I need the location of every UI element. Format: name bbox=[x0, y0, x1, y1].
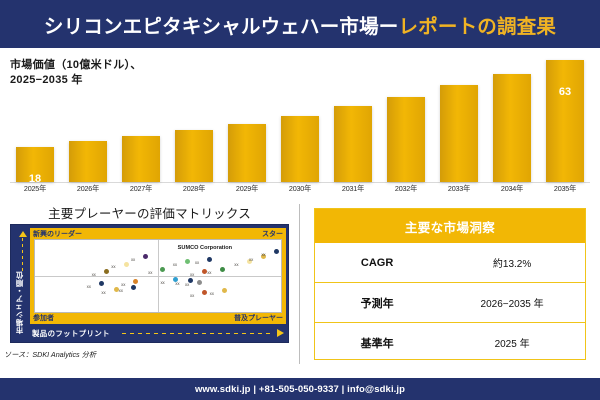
header-bar: シリコンエピタキシャルウェハー市場ーレポートの調査果 bbox=[0, 0, 600, 48]
x-axis-label: 2034年 bbox=[491, 184, 533, 198]
bar-value-label: 63 bbox=[546, 86, 584, 98]
matrix-point-label: xx bbox=[190, 272, 194, 277]
bar-column bbox=[385, 56, 427, 182]
x-axis-label: 2032年 bbox=[385, 184, 427, 198]
matrix-quadrant-frame: 新興のリーダー スター 参加者 普及プレーヤー SUMCO Corporatio… bbox=[30, 228, 286, 324]
insights-header: 主要な市場洞察 bbox=[315, 209, 585, 243]
bar bbox=[387, 97, 425, 182]
bar-column bbox=[491, 56, 533, 182]
bar bbox=[440, 85, 478, 182]
matrix-data-point bbox=[143, 254, 148, 259]
bar-column: 63 bbox=[544, 56, 586, 182]
matrix-point-label: xx bbox=[87, 284, 91, 289]
footer-contact: www.sdki.jp | +81-505-050-9337 | info@sd… bbox=[195, 384, 405, 395]
bar-column bbox=[332, 56, 374, 182]
matrix-x-axis-label: 製品のフットプリント bbox=[32, 328, 110, 339]
bar: 63 bbox=[546, 60, 584, 182]
quadrant-label-bottom-right: 普及プレーヤー bbox=[234, 313, 283, 323]
player-matrix-panel: 主要プレーヤーの評価マトリックス 市場シェア・順位 新興のリーダー スター 参加… bbox=[0, 200, 299, 378]
insights-row: 基準年2025 年 bbox=[315, 322, 585, 362]
x-axis-label: 2033年 bbox=[438, 184, 480, 198]
matrix-point-label: xx bbox=[175, 281, 179, 286]
matrix-point-label: xx bbox=[190, 293, 194, 298]
matrix-data-point bbox=[160, 267, 165, 272]
chart-x-axis-labels: 2025年2026年2027年2028年2029年2030年2031年2032年… bbox=[14, 184, 586, 198]
matrix-point-label: xx bbox=[185, 282, 189, 287]
matrix-data-point bbox=[99, 281, 104, 286]
x-axis-label: 2035年 bbox=[544, 184, 586, 198]
matrix-point-label: xx bbox=[119, 288, 123, 293]
page-title-primary: シリコンエピタキシャルウェハー市場ー bbox=[44, 16, 399, 38]
chart-bars: 1863 bbox=[14, 56, 586, 182]
infographic-page: シリコンエピタキシャルウェハー市場ーレポートの調査果 市場価値（10億米ドル）、… bbox=[0, 0, 600, 400]
matrix-data-point bbox=[222, 288, 227, 293]
matrix-data-point bbox=[197, 280, 202, 285]
bar bbox=[175, 130, 213, 182]
insights-row-value: 2026−2035 年 bbox=[439, 295, 585, 310]
matrix-horizontal-divider bbox=[35, 276, 281, 277]
bar-column bbox=[120, 56, 162, 182]
matrix-point-label: xx bbox=[249, 257, 253, 262]
matrix-point-label: xx bbox=[101, 290, 105, 295]
bar bbox=[122, 136, 160, 182]
page-title-accent: レポートの調査果 bbox=[399, 16, 557, 38]
insights-row-key: 基準年 bbox=[315, 335, 439, 351]
matrix-point-label: xx bbox=[195, 260, 199, 265]
bar bbox=[493, 74, 531, 182]
matrix-x-axis: 製品のフットプリント bbox=[30, 326, 286, 340]
matrix-data-point bbox=[124, 262, 129, 267]
bar-column bbox=[226, 56, 268, 182]
insights-row-value: 約13.2% bbox=[439, 255, 585, 270]
matrix-point-label: xx bbox=[148, 270, 152, 275]
key-insights-table: 主要な市場洞察 CAGR約13.2%予測年2026−2035 年基準年2025 … bbox=[314, 208, 586, 360]
matrix-scatter-plot: SUMCO Corporation xxxxxxxxxxxxxxxxxxxxxx… bbox=[34, 239, 282, 313]
matrix-data-point bbox=[202, 290, 207, 295]
market-value-bar-chart: 市場価値（10億米ドル）、 2025−2035 年 1863 2025年2026… bbox=[0, 48, 600, 200]
matrix-data-point bbox=[220, 267, 225, 272]
chart-baseline bbox=[10, 182, 590, 183]
page-title: シリコンエピタキシャルウェハー市場ーレポートの調査果 bbox=[44, 10, 556, 39]
matrix-data-point bbox=[274, 249, 279, 254]
bar-column bbox=[279, 56, 321, 182]
x-axis-label: 2026年 bbox=[67, 184, 109, 198]
matrix-y-axis: 市場シェア・順位 bbox=[13, 229, 29, 340]
matrix-point-label: xx bbox=[111, 264, 115, 269]
x-axis-label: 2028年 bbox=[173, 184, 215, 198]
panel-divider bbox=[299, 204, 300, 364]
matrix-title: 主要プレーヤーの評価マトリックス bbox=[0, 203, 299, 222]
matrix-point-label: xx bbox=[160, 280, 164, 285]
bar bbox=[69, 141, 107, 182]
insights-row: 予測年2026−2035 年 bbox=[315, 282, 585, 322]
matrix-point-label: xx bbox=[131, 257, 135, 262]
x-axis-label: 2029年 bbox=[226, 184, 268, 198]
x-axis-dashed-line bbox=[122, 333, 274, 334]
matrix-point-label: xx bbox=[173, 262, 177, 267]
quadrant-label-top-right: スター bbox=[262, 229, 283, 239]
insights-row: CAGR約13.2% bbox=[315, 243, 585, 282]
arrow-up-icon bbox=[19, 231, 27, 237]
matrix-point-label: xx bbox=[121, 282, 125, 287]
matrix-point-label: xx bbox=[92, 272, 96, 277]
matrix-data-point bbox=[133, 279, 138, 284]
matrix-data-point bbox=[185, 259, 190, 264]
insights-header-label: 主要な市場洞察 bbox=[405, 217, 495, 236]
x-axis-label: 2031年 bbox=[332, 184, 374, 198]
insights-row-value: 2025 年 bbox=[439, 335, 585, 350]
bar bbox=[228, 124, 266, 182]
matrix-point-label: xx bbox=[207, 270, 211, 275]
bar-column bbox=[438, 56, 480, 182]
matrix-point-label: xx bbox=[234, 262, 238, 267]
arrow-right-icon bbox=[277, 329, 284, 337]
quadrant-label-top-left: 新興のリーダー bbox=[33, 229, 82, 239]
bar-column bbox=[173, 56, 215, 182]
quadrant-label-bottom-left: 参加者 bbox=[33, 313, 54, 323]
insights-row-key: CAGR bbox=[315, 257, 439, 269]
source-note: ソース：SDKI Analytics 分析 bbox=[4, 350, 96, 360]
bar bbox=[281, 116, 319, 182]
x-axis-label: 2030年 bbox=[279, 184, 321, 198]
insights-row-key: 予測年 bbox=[315, 295, 439, 311]
matrix-point-label: xx bbox=[210, 291, 214, 296]
bar: 18 bbox=[16, 147, 54, 182]
matrix-data-point bbox=[207, 257, 212, 262]
x-axis-label: 2027年 bbox=[120, 184, 162, 198]
bar bbox=[334, 106, 372, 182]
matrix-data-point bbox=[104, 269, 109, 274]
lower-section: 主要プレーヤーの評価マトリックス 市場シェア・順位 新興のリーダー スター 参加… bbox=[0, 200, 600, 378]
y-axis-dashed-line bbox=[22, 238, 23, 272]
matrix-data-point bbox=[131, 285, 136, 290]
matrix-y-axis-label: 市場シェア・順位 bbox=[14, 271, 28, 334]
bar-column bbox=[67, 56, 109, 182]
matrix-point-label: xx bbox=[261, 252, 265, 257]
matrix-leader-label: SUMCO Corporation bbox=[178, 245, 232, 251]
matrix-box: 市場シェア・順位 新興のリーダー スター 参加者 普及プレーヤー SUMCO C… bbox=[10, 224, 289, 343]
insights-rows: CAGR約13.2%予測年2026−2035 年基準年2025 年 bbox=[315, 243, 585, 362]
x-axis-label: 2025年 bbox=[14, 184, 56, 198]
bar-column: 18 bbox=[14, 56, 56, 182]
footer-bar: www.sdki.jp | +81-505-050-9337 | info@sd… bbox=[0, 378, 600, 400]
